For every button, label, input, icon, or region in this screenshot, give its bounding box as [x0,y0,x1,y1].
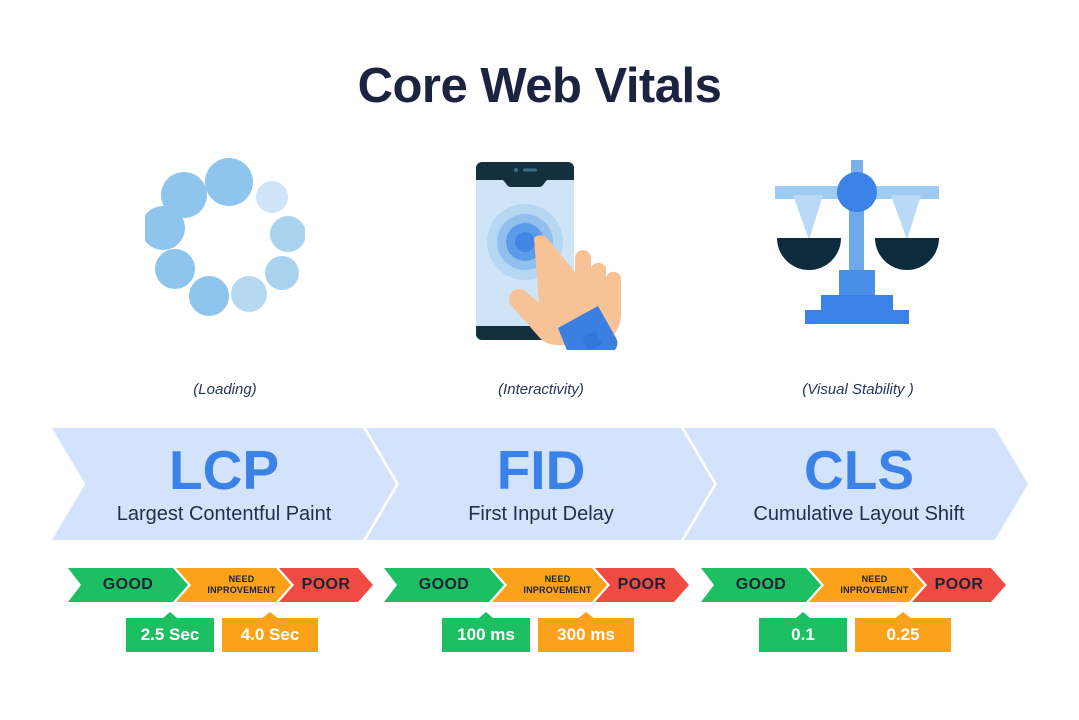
acronym-lcp: LCP [64,440,384,500]
rating-label-good-cls: GOOD [701,568,821,602]
threshold-chips-cls: 0.1 0.25 [701,612,1006,656]
rating-label-poor-cls: POOR [912,568,1006,602]
threshold-chips-lcp: 2.5 Sec 4.0 Sec [68,612,373,656]
rating-segment-need-fid[interactable]: NEED INPROVEMENT [492,568,607,602]
rating-segment-need-lcp[interactable]: NEED INPROVEMENT [176,568,291,602]
rating-label-need-cls: NEED INPROVEMENT [809,568,932,602]
page-title: Core Web Vitals [0,58,1079,114]
acronym-name-cls: Cumulative Layout Shift [699,502,1019,526]
threshold-chip-need-cls[interactable]: 0.25 [855,612,951,652]
icon-cell-fid [381,150,701,365]
caption-lcp: (Loading) [65,381,385,398]
icon-row [0,150,1079,365]
threshold-value-good-lcp: 2.5 Sec [141,620,200,645]
rating-segment-need-cls[interactable]: NEED INPROVEMENT [809,568,924,602]
rating-segment-poor-fid[interactable]: POOR [595,568,689,602]
rating-label-need-line1-cls: NEED [840,574,908,585]
rating-label-poor-lcp: POOR [279,568,373,602]
rating-label-poor-fid: POOR [595,568,689,602]
rating-group-lcp: GOOD NEED INPROVEMENT POOR 2.5 Sec 4.0 S… [68,568,388,663]
banner-cell-cls[interactable]: CLS Cumulative Layout Shift [699,428,1019,540]
threshold-value-good-fid: 100 ms [457,620,515,645]
rating-label-need-fid: NEED INPROVEMENT [492,568,615,602]
icon-cell-lcp [65,150,385,365]
threshold-value-need-lcp: 4.0 Sec [241,620,300,645]
balance-scales-svg [763,150,953,340]
phone-tap-icon [446,150,636,355]
loading-spinner-icon [145,150,305,325]
threshold-chip-good-lcp[interactable]: 2.5 Sec [126,612,214,652]
threshold-chip-good-cls[interactable]: 0.1 [759,612,847,652]
rating-label-need-line2-lcp: INPROVEMENT [207,585,275,596]
rating-label-need-lcp: NEED INPROVEMENT [176,568,299,602]
threshold-value-need-fid: 300 ms [557,620,615,645]
balance-scales-icon [763,150,953,345]
rating-group-cls: GOOD NEED INPROVEMENT POOR 0.1 0.25 [701,568,1021,663]
acronym-name-lcp: Largest Contentful Paint [64,502,384,526]
threshold-chip-need-fid[interactable]: 300 ms [538,612,634,652]
phone-tap-svg [446,150,636,350]
caption-cls: (Visual Stability ) [698,381,1018,398]
threshold-chip-need-lcp[interactable]: 4.0 Sec [222,612,318,652]
rating-label-need-line2-cls: INPROVEMENT [840,585,908,596]
rating-bar-fid: GOOD NEED INPROVEMENT POOR [384,568,689,602]
threshold-value-good-cls: 0.1 [791,620,815,645]
rating-label-good-lcp: GOOD [68,568,188,602]
banner-cell-fid[interactable]: FID First Input Delay [381,428,701,540]
acronym-name-fid: First Input Delay [381,502,701,526]
metric-banner: LCP Largest Contentful Paint FID First I… [52,428,1028,540]
icon-cell-cls [698,150,1018,365]
loading-spinner-svg [145,150,305,320]
rating-segment-good-lcp[interactable]: GOOD [68,568,188,602]
caption-fid: (Interactivity) [381,381,701,398]
banner-cell-lcp[interactable]: LCP Largest Contentful Paint [64,428,384,540]
threshold-chips-fid: 100 ms 300 ms [384,612,689,656]
acronym-cls: CLS [699,440,1019,500]
rating-segment-good-fid[interactable]: GOOD [384,568,504,602]
threshold-value-need-cls: 0.25 [886,620,919,645]
rating-bar-lcp: GOOD NEED INPROVEMENT POOR [68,568,373,602]
rating-segment-good-cls[interactable]: GOOD [701,568,821,602]
rating-label-need-line1-lcp: NEED [207,574,275,585]
rating-label-need-line1-fid: NEED [523,574,591,585]
acronym-fid: FID [381,440,701,500]
threshold-chip-good-fid[interactable]: 100 ms [442,612,530,652]
rating-group-fid: GOOD NEED INPROVEMENT POOR 100 ms 300 ms [384,568,704,663]
rating-label-good-fid: GOOD [384,568,504,602]
rating-segment-poor-cls[interactable]: POOR [912,568,1006,602]
rating-bar-cls: GOOD NEED INPROVEMENT POOR [701,568,1006,602]
rating-segment-poor-lcp[interactable]: POOR [279,568,373,602]
rating-label-need-line2-fid: INPROVEMENT [523,585,591,596]
